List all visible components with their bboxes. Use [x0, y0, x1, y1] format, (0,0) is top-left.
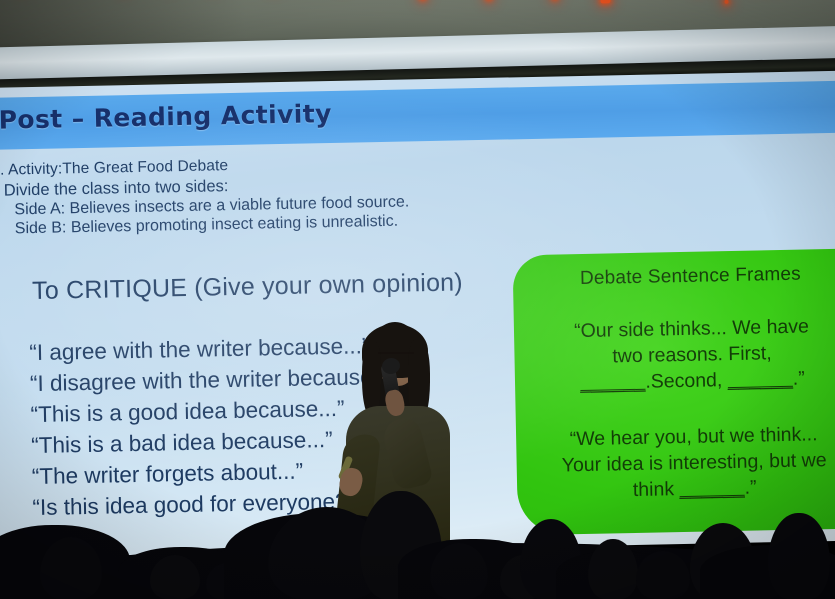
photo-scene: Post – Reading Activity B. Activity:The … — [0, 0, 835, 599]
frame-one: “Our side thinks... We have two reasons.… — [524, 312, 835, 397]
frame-one-blank-1: ______ — [580, 371, 646, 394]
frame-one-blank-2: ______ — [728, 368, 794, 391]
critique-heading: To CRITIQUE (Give your own opinion) — [32, 268, 463, 306]
frame-one-part3: .Second, — [645, 369, 722, 393]
led-light-icon — [724, 0, 728, 4]
audience-head — [768, 513, 830, 599]
frame-one-part2: two reasons. First, — [612, 342, 772, 367]
slide-title-band: Post – Reading Activity — [0, 80, 835, 150]
audience-silhouettes — [0, 469, 835, 599]
led-light-icon — [600, 0, 610, 3]
audience-head — [150, 555, 200, 599]
frame-one-part4: .” — [793, 368, 805, 390]
slide-intro-block: B. Activity:The Great Food Debate □ Divi… — [0, 151, 531, 239]
instruction-text: Divide the class into two sides: — [4, 177, 229, 200]
callout-title: Debate Sentence Frames — [523, 262, 835, 291]
frame-one-part1: “Our side thinks... We have — [574, 315, 809, 342]
frame-two-part1: “We hear you, but we think... — [570, 423, 818, 450]
slide-title: Post – Reading Activity — [0, 99, 332, 135]
